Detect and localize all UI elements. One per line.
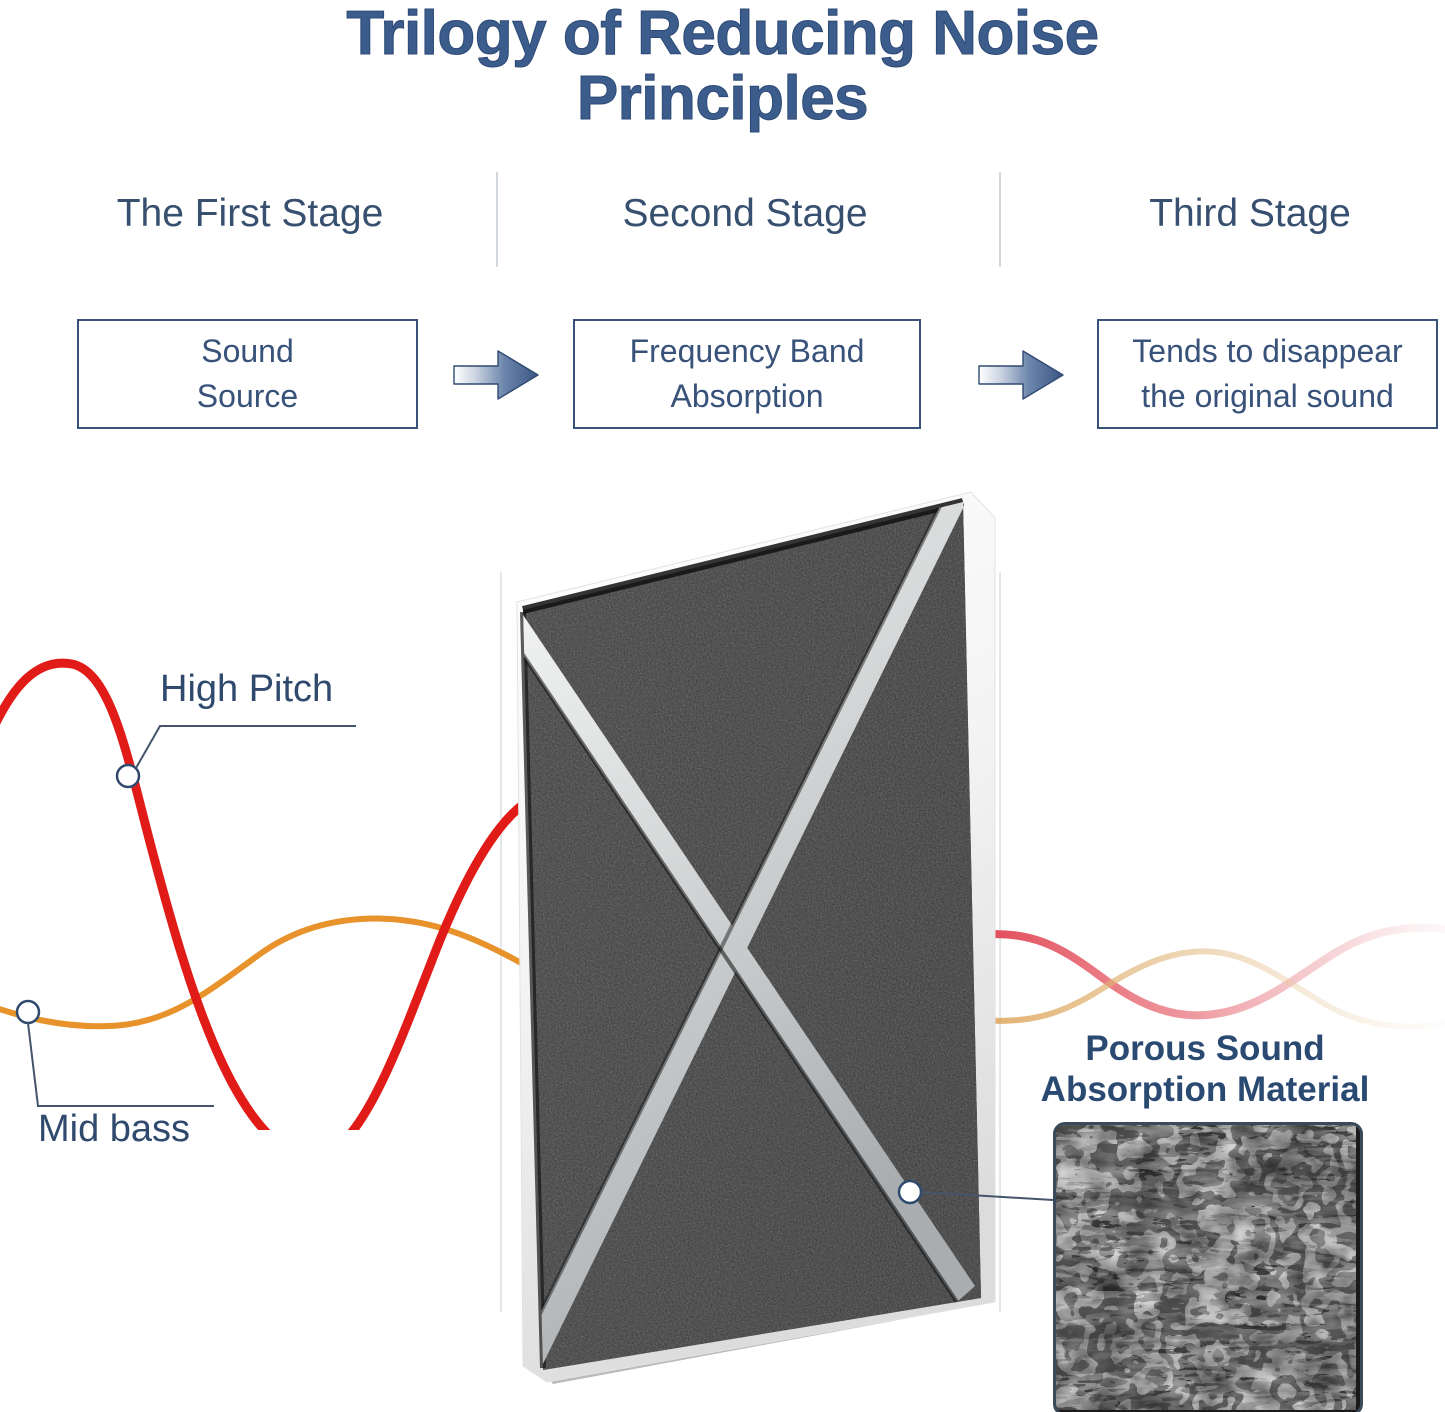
flow-box-0-line-2: Source bbox=[197, 374, 298, 419]
callout-label-high-pitch: High Pitch bbox=[160, 668, 333, 711]
callout-label-mid-bass: Mid bass bbox=[38, 1108, 190, 1151]
arrow-right-icon bbox=[452, 348, 540, 402]
callout-porous-line-1: Porous Sound bbox=[1035, 1028, 1375, 1069]
stage-divider-1 bbox=[496, 172, 498, 267]
flow-box-0-line-1: Sound bbox=[197, 329, 298, 374]
flow-box-frequency-band-absorption: Frequency Band Absorption bbox=[573, 319, 921, 429]
flow-box-1-line-1: Frequency Band bbox=[630, 329, 865, 374]
page-title-line-2: Principles bbox=[0, 67, 1445, 130]
stage-label-first: The First Stage bbox=[60, 192, 440, 236]
wave-high-pitch-attenuated bbox=[980, 928, 1445, 1016]
stage-label-third: Third Stage bbox=[1060, 192, 1440, 236]
arrow-right-icon bbox=[977, 348, 1065, 402]
page-title: Trilogy of Reducing Noise Principles bbox=[0, 2, 1445, 130]
callout-label-porous-material: Porous Sound Absorption Material bbox=[1035, 1028, 1375, 1111]
acoustic-panel-illustration bbox=[495, 470, 1015, 1410]
fiber-texture bbox=[1056, 1125, 1356, 1410]
flow-box-1-line-2: Absorption bbox=[630, 374, 865, 419]
callout-porous-line-2: Absorption Material bbox=[1035, 1069, 1375, 1110]
stage-divider-2 bbox=[999, 172, 1001, 267]
flow-box-2-line-2: the original sound bbox=[1132, 374, 1402, 419]
flow-box-sound-source: Sound Source bbox=[77, 319, 418, 429]
flow-box-tends-to-disappear: Tends to disappear the original sound bbox=[1097, 319, 1438, 429]
infographic-page: Trilogy of Reducing Noise Principles The… bbox=[0, 0, 1445, 1412]
flow-box-2-line-1: Tends to disappear bbox=[1132, 329, 1402, 374]
porous-material-photo bbox=[1053, 1122, 1363, 1412]
stage-label-second: Second Stage bbox=[555, 192, 935, 236]
page-title-line-1: Trilogy of Reducing Noise bbox=[0, 2, 1445, 65]
